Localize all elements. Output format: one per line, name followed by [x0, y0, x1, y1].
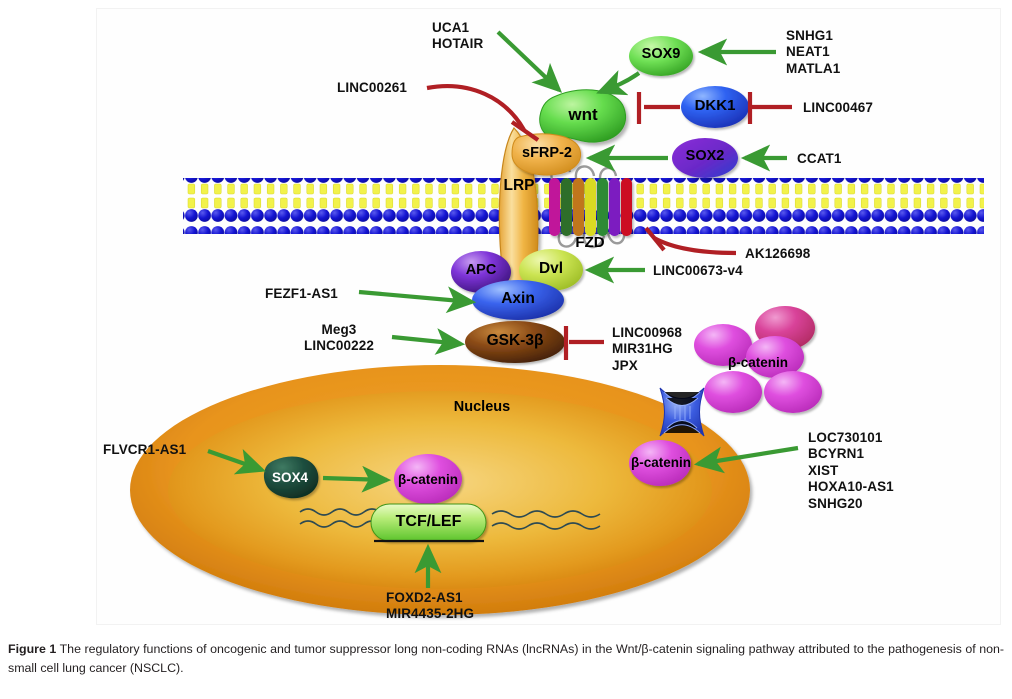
node-beta-catenin-nuclear-right	[629, 440, 691, 486]
fzd-receptor	[549, 164, 632, 247]
lncrna-label-ccat1: CCAT1	[797, 151, 842, 167]
nuclear-pore-icon	[660, 388, 704, 436]
lncrna-label-fezf1as1: FEZF1-AS1	[265, 286, 338, 302]
figure-caption-label: Figure 1	[8, 642, 56, 656]
node-tcf-lef	[371, 504, 486, 541]
lncrna-label-linc00968-group: LINC00968 MIR31HG JPX	[612, 325, 682, 374]
lncrna-label-foxd2as1-group: FOXD2-AS1 MIR4435-2HG	[386, 590, 474, 623]
lncrna-label-ak126698: AK126698	[745, 246, 810, 262]
lncrna-label-meg3-group: Meg3 LINC00222	[304, 322, 374, 355]
lncrna-label-linc00261: LINC00261	[337, 80, 407, 96]
node-gsk3b	[465, 321, 565, 363]
lncrna-label-uca1-hotair: UCA1 HOTAIR	[432, 20, 483, 53]
lncrna-label-linc00467: LINC00467	[803, 100, 873, 116]
figure-caption: Figure 1 The regulatory functions of onc…	[8, 640, 1004, 678]
node-sox2	[672, 138, 738, 178]
lncrna-label-flvcr1as1: FLVCR1-AS1	[103, 442, 186, 458]
node-beta-catenin-nuclear-left	[394, 454, 462, 504]
lncrna-label-snhg1-group: SNHG1 NEAT1 MATLA1	[786, 28, 840, 77]
node-sox9	[629, 36, 693, 76]
lncrna-label-linc00673v4: LINC00673-v4	[653, 263, 743, 279]
node-sfrp2	[512, 134, 581, 175]
node-axin	[472, 280, 564, 320]
node-dkk1	[681, 86, 749, 128]
beta-catenin-cluster	[694, 306, 822, 413]
figure-caption-text: The regulatory functions of oncogenic an…	[8, 642, 1004, 675]
lncrna-label-loc730101-group: LOC730101 BCYRN1 XIST HOXA10-AS1 SNHG20	[808, 430, 894, 512]
